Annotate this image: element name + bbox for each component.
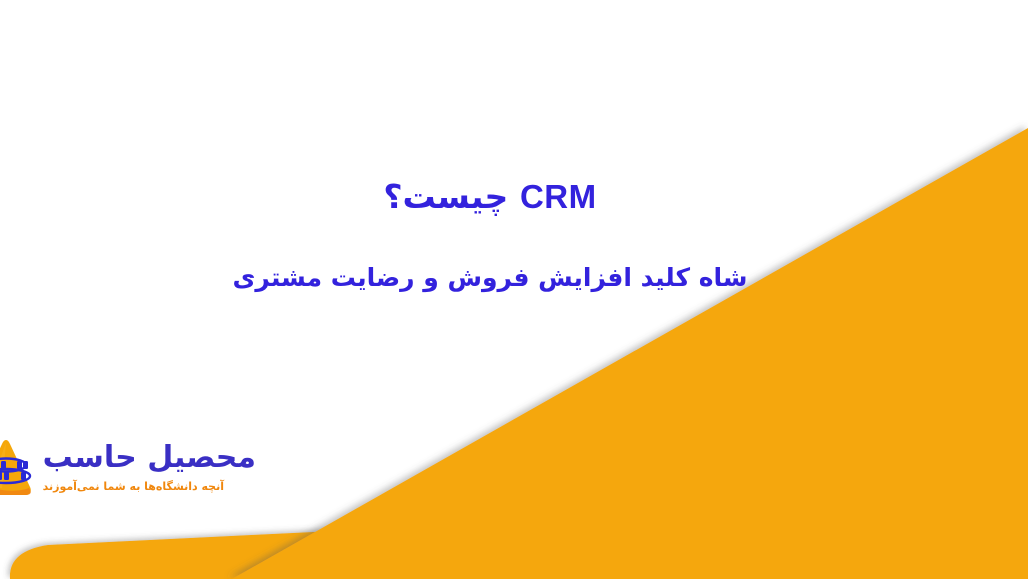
slide-text-block: CRM چیست؟ شاه کلید افزایش فروش و رضایت م…: [0, 176, 980, 295]
slide-canvas: CRM چیست؟ شاه کلید افزایش فروش و رضایت م…: [0, 0, 1028, 579]
page-title: CRM چیست؟: [0, 176, 980, 217]
logo-tagline: آنچه دانشگاه‌ها به شما نمی‌آموزند: [43, 480, 224, 493]
logo-name: محصیل حاسب: [43, 443, 256, 473]
title-latin-term: CRM: [520, 178, 597, 215]
pyramid-abacus-icon: [0, 437, 35, 501]
brand-logo[interactable]: محصیل حاسب آنچه دانشگاه‌ها به شما نمی‌آم…: [26, 428, 256, 510]
title-persian-rest: چیست؟: [383, 177, 520, 216]
page-subtitle: شاه کلید افزایش فروش و رضایت مشتری: [0, 217, 980, 295]
logo-text-group: محصیل حاسب آنچه دانشگاه‌ها به شما نمی‌آم…: [43, 436, 256, 502]
